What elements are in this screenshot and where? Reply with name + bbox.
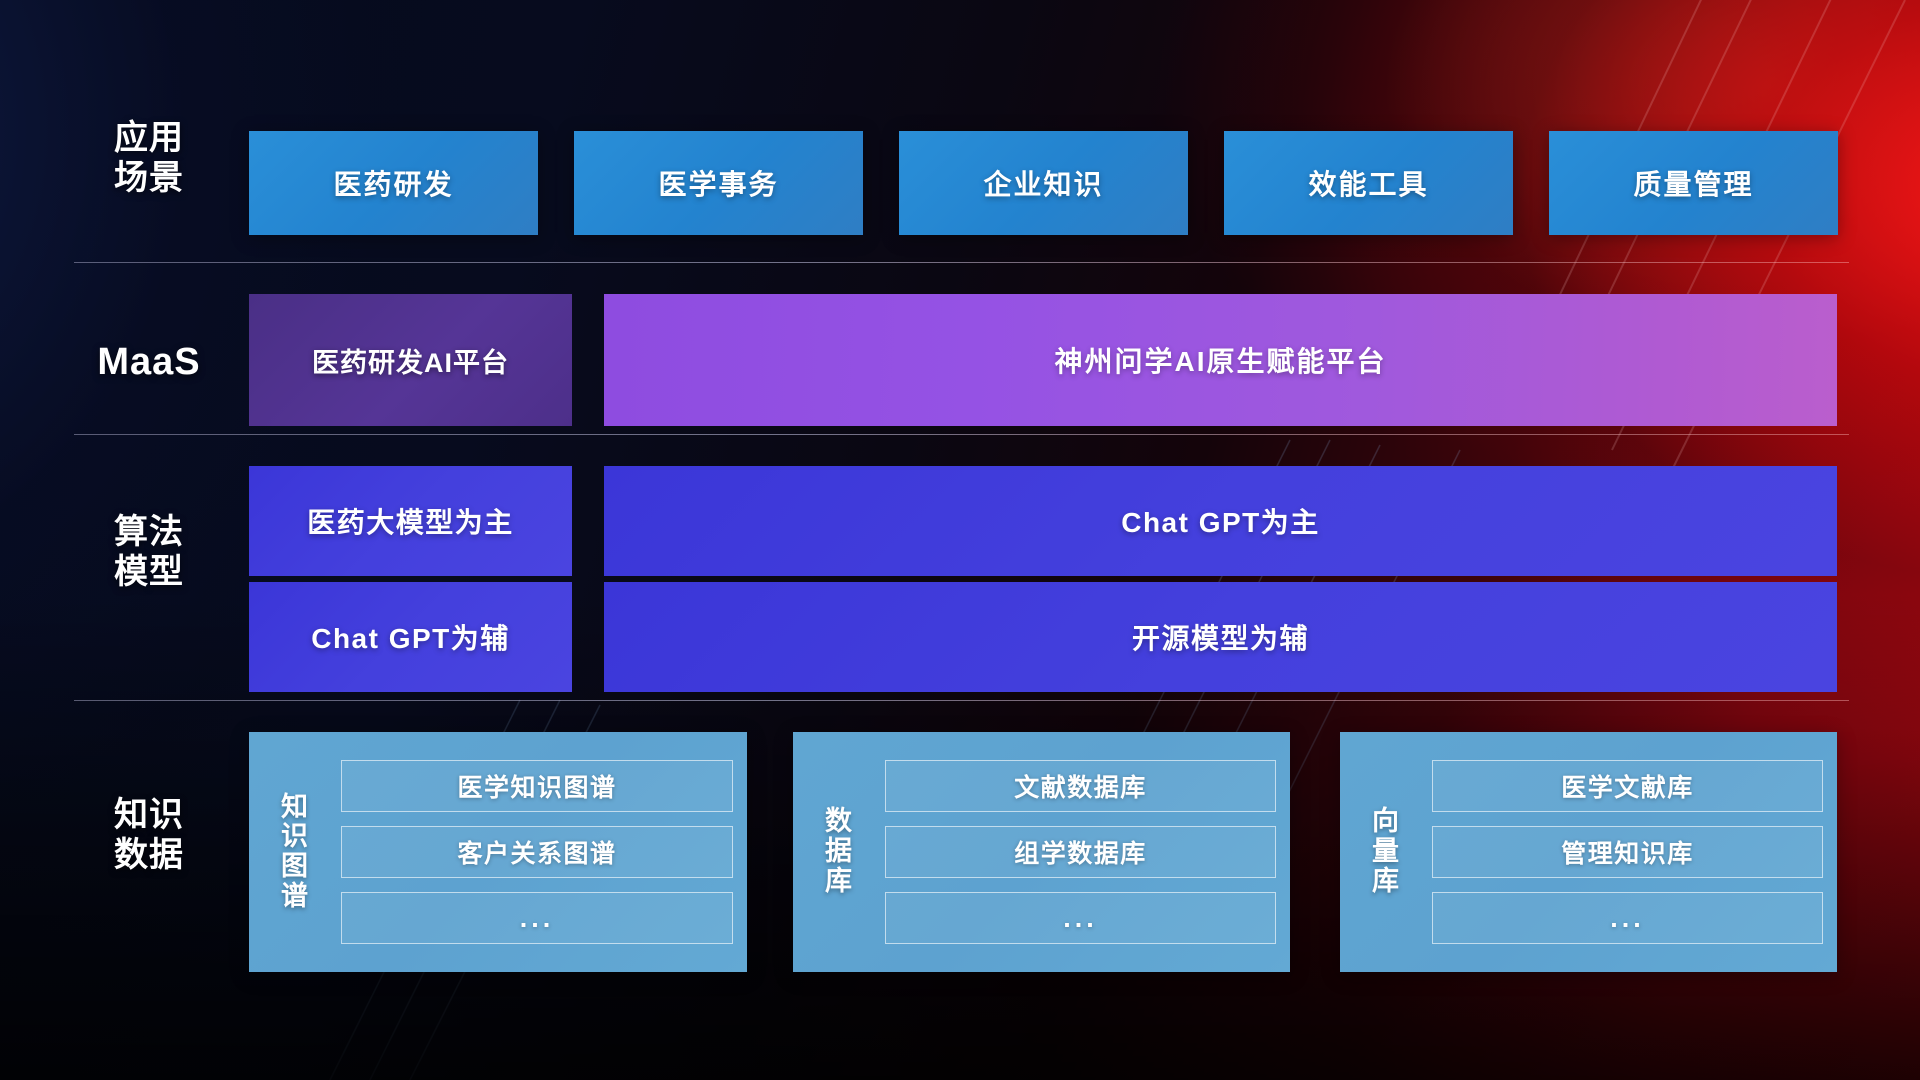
algo-box-right-primary[interactable]: Chat GPT为主 xyxy=(604,466,1837,576)
divider-maas-algorithms xyxy=(74,434,1849,435)
scenario-box-2[interactable]: 医学事务 xyxy=(574,131,863,235)
scenario-box-2-label: 医学事务 xyxy=(658,163,778,203)
algo-box-left-secondary-label: Chat GPT为辅 xyxy=(311,617,510,657)
knowledge-item-graph-2[interactable]: 客户关系图谱 xyxy=(341,826,733,878)
scenario-box-1[interactable]: 医药研发 xyxy=(249,131,538,235)
maas-platform-pharma[interactable]: 医药研发AI平台 xyxy=(249,294,572,426)
scenario-box-3[interactable]: 企业知识 xyxy=(899,131,1188,235)
knowledge-item-vector-2-label: 管理知识库 xyxy=(1561,834,1694,870)
scenario-box-3-label: 企业知识 xyxy=(983,163,1103,203)
knowledge-item-database-2[interactable]: 组学数据库 xyxy=(885,826,1276,878)
divider-scenarios-maas xyxy=(74,262,1849,263)
algo-box-left-primary[interactable]: 医药大模型为主 xyxy=(249,466,572,576)
knowledge-item-vector-2[interactable]: 管理知识库 xyxy=(1432,826,1823,878)
knowledge-panel-graph-title: 知 识 图 谱 xyxy=(249,793,341,912)
knowledge-panel-vector-title: 向 量 库 xyxy=(1340,807,1432,896)
knowledge-panel-database-title: 数 据 库 xyxy=(793,807,885,896)
algo-box-right-secondary[interactable]: 开源模型为辅 xyxy=(604,582,1837,692)
knowledge-item-vector-3-label: ... xyxy=(1610,903,1645,934)
knowledge-item-graph-3-label: ... xyxy=(520,903,555,934)
knowledge-item-vector-1[interactable]: 医学文献库 xyxy=(1432,760,1823,812)
algo-box-left-secondary[interactable]: Chat GPT为辅 xyxy=(249,582,572,692)
knowledge-panel-database[interactable]: 数 据 库 文献数据库 组学数据库 ... xyxy=(793,732,1290,972)
knowledge-item-graph-2-label: 客户关系图谱 xyxy=(457,834,616,870)
maas-platform-shenzhou-label: 神州问学AI原生赋能平台 xyxy=(1054,340,1386,380)
scenario-box-4-label: 效能工具 xyxy=(1308,163,1428,203)
knowledge-item-database-3[interactable]: ... xyxy=(885,892,1276,944)
row-label-knowledge: 知识 数据 xyxy=(74,795,224,875)
scenario-box-1-label: 医药研发 xyxy=(333,163,453,203)
knowledge-item-vector-1-label: 医学文献库 xyxy=(1561,768,1694,804)
maas-platform-shenzhou[interactable]: 神州问学AI原生赋能平台 xyxy=(604,294,1837,426)
knowledge-panel-graph[interactable]: 知 识 图 谱 医学知识图谱 客户关系图谱 ... xyxy=(249,732,747,972)
divider-algorithms-knowledge xyxy=(74,700,1849,701)
knowledge-item-graph-1-label: 医学知识图谱 xyxy=(457,768,616,804)
row-label-maas: MaaS xyxy=(74,340,224,385)
row-label-scenarios: 应用 场景 xyxy=(74,118,224,198)
knowledge-item-database-3-label: ... xyxy=(1063,903,1098,934)
knowledge-panel-database-items: 文献数据库 组学数据库 ... xyxy=(885,760,1276,944)
knowledge-item-database-2-label: 组学数据库 xyxy=(1014,834,1147,870)
knowledge-panel-graph-items: 医学知识图谱 客户关系图谱 ... xyxy=(341,760,733,944)
knowledge-item-database-1-label: 文献数据库 xyxy=(1014,768,1147,804)
maas-platform-pharma-label: 医药研发AI平台 xyxy=(312,341,509,380)
knowledge-panel-vector-items: 医学文献库 管理知识库 ... xyxy=(1432,760,1823,944)
architecture-diagram-slide: 应用 场景 医药研发 医学事务 企业知识 效能工具 质量管理 MaaS 医药研发… xyxy=(0,0,1920,1080)
knowledge-item-database-1[interactable]: 文献数据库 xyxy=(885,760,1276,812)
algo-box-right-secondary-label: 开源模型为辅 xyxy=(1132,617,1309,657)
knowledge-item-graph-1[interactable]: 医学知识图谱 xyxy=(341,760,733,812)
row-label-algorithms: 算法 模型 xyxy=(74,512,224,592)
knowledge-item-graph-3[interactable]: ... xyxy=(341,892,733,944)
knowledge-item-vector-3[interactable]: ... xyxy=(1432,892,1823,944)
algo-box-left-primary-label: 医药大模型为主 xyxy=(307,501,514,541)
algo-box-right-primary-label: Chat GPT为主 xyxy=(1121,501,1320,541)
knowledge-panel-vector[interactable]: 向 量 库 医学文献库 管理知识库 ... xyxy=(1340,732,1837,972)
scenario-box-4[interactable]: 效能工具 xyxy=(1224,131,1513,235)
scenario-box-5-label: 质量管理 xyxy=(1633,163,1753,203)
scenario-box-5[interactable]: 质量管理 xyxy=(1549,131,1838,235)
